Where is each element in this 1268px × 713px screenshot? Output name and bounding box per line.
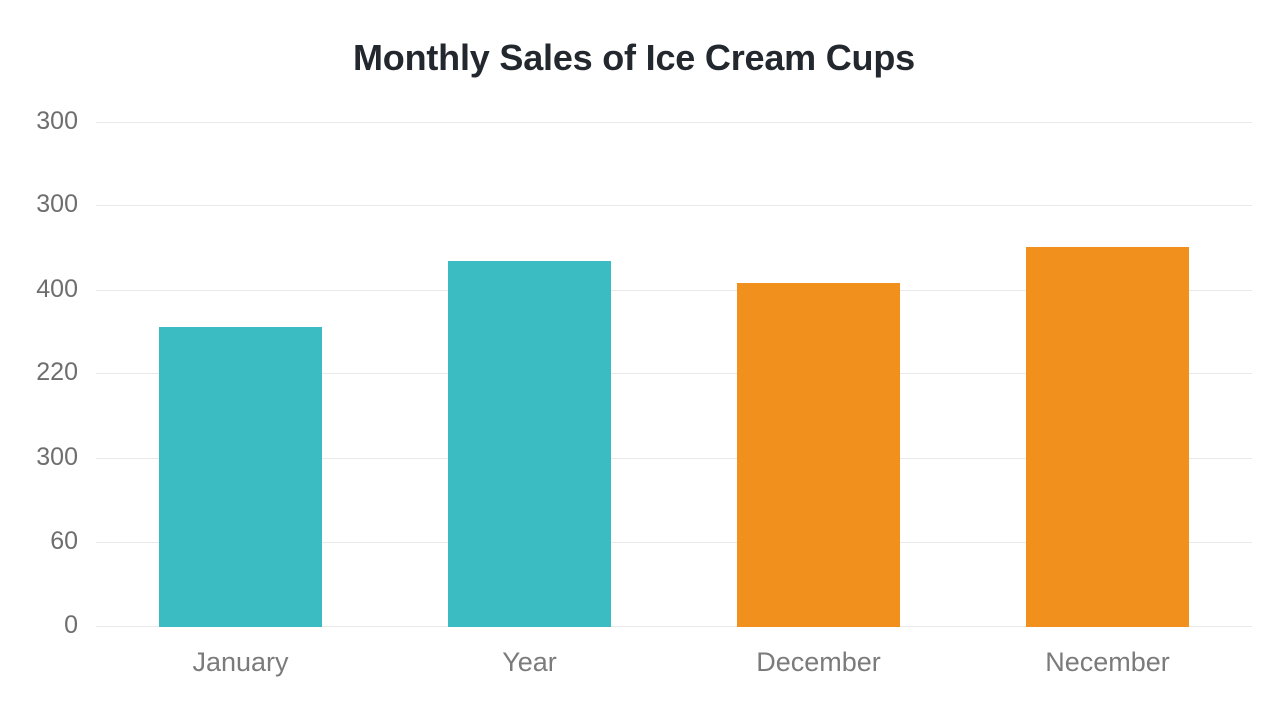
bar[interactable] bbox=[737, 283, 900, 627]
gridline bbox=[96, 122, 1252, 123]
bar[interactable] bbox=[448, 261, 611, 627]
x-tick-label: December bbox=[674, 645, 963, 679]
y-tick-label: 400 bbox=[8, 277, 78, 302]
bar[interactable] bbox=[159, 327, 322, 627]
y-tick-label: 220 bbox=[8, 360, 78, 385]
x-tick-label: Year bbox=[385, 645, 674, 679]
y-tick-label: 300 bbox=[8, 192, 78, 217]
y-tick-label: 60 bbox=[8, 529, 78, 554]
plot-area bbox=[96, 122, 1252, 627]
y-tick-label: 300 bbox=[8, 445, 78, 470]
chart-title: Monthly Sales of Ice Cream Cups bbox=[0, 36, 1268, 80]
gridline bbox=[96, 205, 1252, 206]
x-tick-label: Necember bbox=[963, 645, 1252, 679]
x-tick-label: January bbox=[96, 645, 385, 679]
bar[interactable] bbox=[1026, 247, 1189, 627]
bar-chart: Monthly Sales of Ice Cream Cups 30030040… bbox=[0, 0, 1268, 713]
y-tick-label: 0 bbox=[8, 613, 78, 638]
y-tick-label: 300 bbox=[8, 109, 78, 134]
